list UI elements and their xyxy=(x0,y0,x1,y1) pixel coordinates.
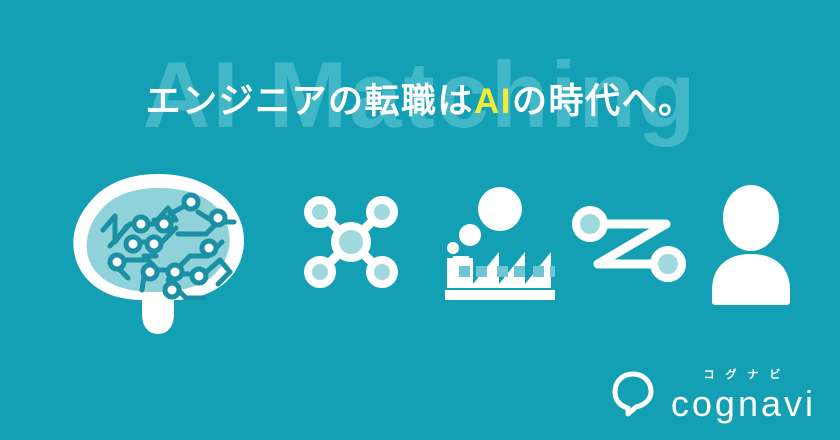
person-icon xyxy=(708,184,794,311)
logo-ruby-katakana: コグナビ xyxy=(692,370,791,381)
headline-accent-ai: AI xyxy=(474,82,512,121)
logo-wordmark: cognavi xyxy=(668,386,816,422)
factory-icon xyxy=(443,186,568,313)
speech-bubble-mark xyxy=(612,371,654,422)
cognavi-logo[interactable]: コグナビ cognavi xyxy=(612,370,816,422)
network-nodes-icon xyxy=(296,190,406,299)
headline-part-2: の時代へ。 xyxy=(512,82,695,121)
brain-circuit-icon xyxy=(58,168,258,343)
promo-banner: AI Matching エンジニアの転職はAIの時代へ。 xyxy=(0,0,840,440)
page-title: エンジニアの転職はAIの時代へ。 xyxy=(0,84,840,119)
logo-text: コグナビ cognavi xyxy=(668,370,816,422)
icon-row xyxy=(0,168,840,338)
headline-part-1: エンジニアの転職は xyxy=(145,82,474,121)
z-connector-icon xyxy=(570,206,688,287)
